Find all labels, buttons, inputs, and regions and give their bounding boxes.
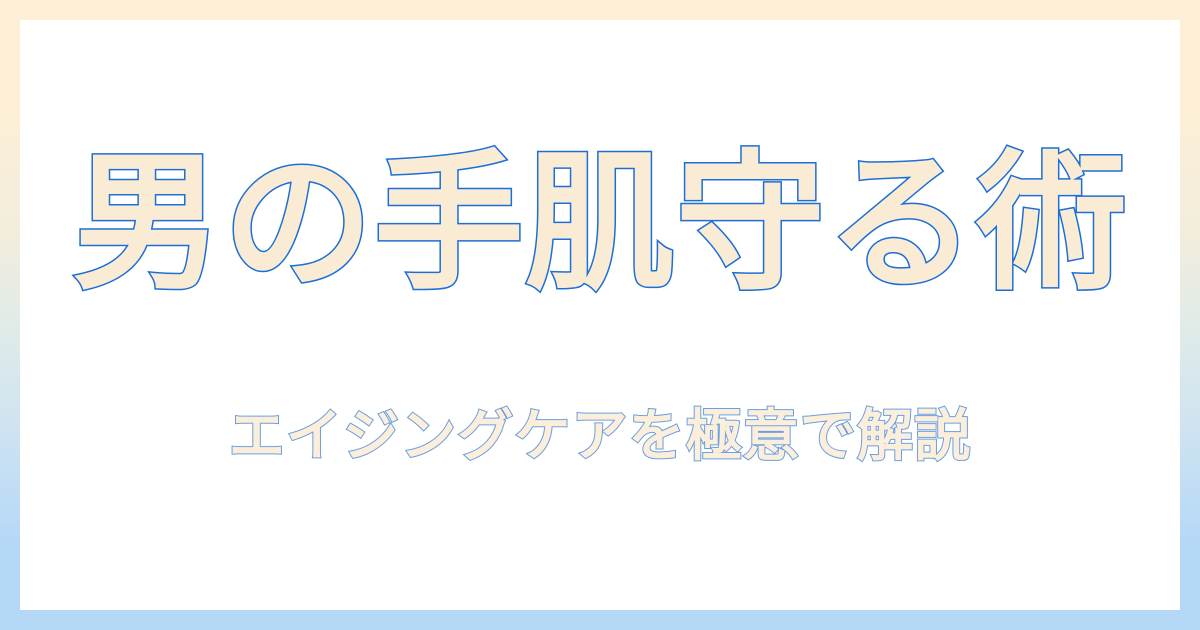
card-content: 男の手肌守る術 エイジングケアを極意で解説 xyxy=(20,20,1180,608)
card-inner-surface: 男の手肌守る術 エイジングケアを極意で解説 xyxy=(20,20,1180,610)
page-title: 男の手肌守る術 xyxy=(20,148,1180,301)
eyecatch-card: 男の手肌守る術 エイジングケアを極意で解説 xyxy=(0,0,1200,630)
page-subtitle: エイジングケアを極意で解説 xyxy=(20,406,1180,468)
